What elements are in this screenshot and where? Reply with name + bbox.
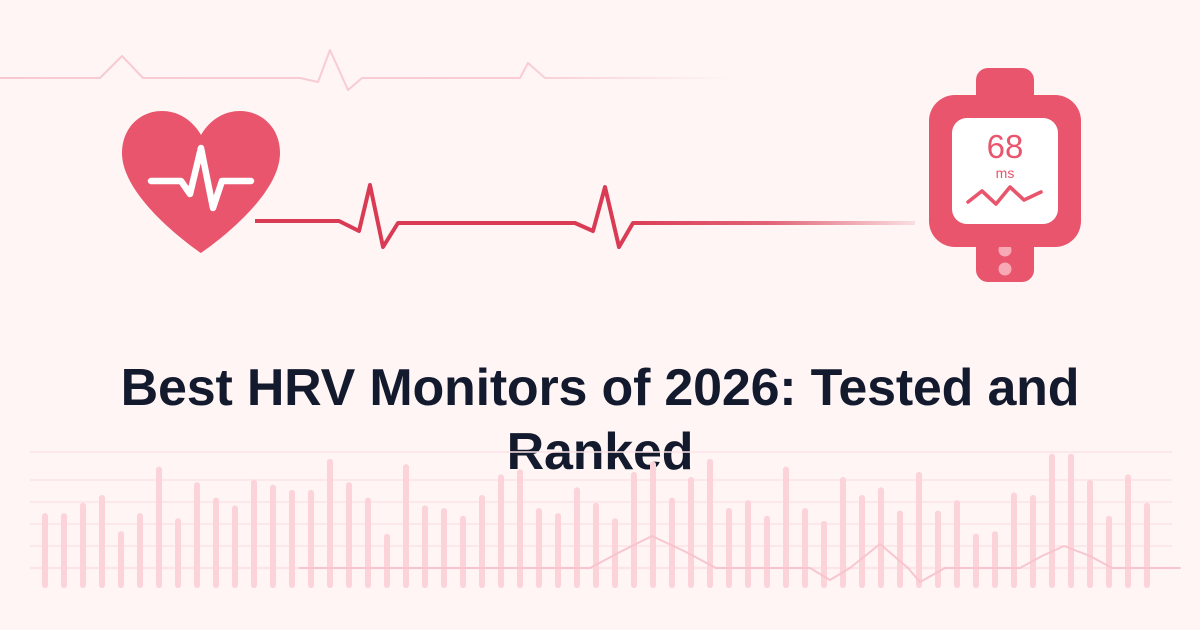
hrv-trend-overlay-icon — [0, 440, 1200, 630]
poster-canvas: 68 ms Best HRV Monitors of 2026: Tested … — [0, 0, 1200, 630]
watch-reading-value: 68 — [987, 128, 1024, 165]
hrv-trend-path — [300, 536, 1180, 582]
watch-reading-unit: ms — [996, 165, 1015, 181]
smartwatch-hrv-device-icon: 68 ms — [920, 68, 1090, 282]
ecg-waveform-icon — [255, 165, 915, 255]
hrv-bar-chart — [0, 440, 1200, 630]
